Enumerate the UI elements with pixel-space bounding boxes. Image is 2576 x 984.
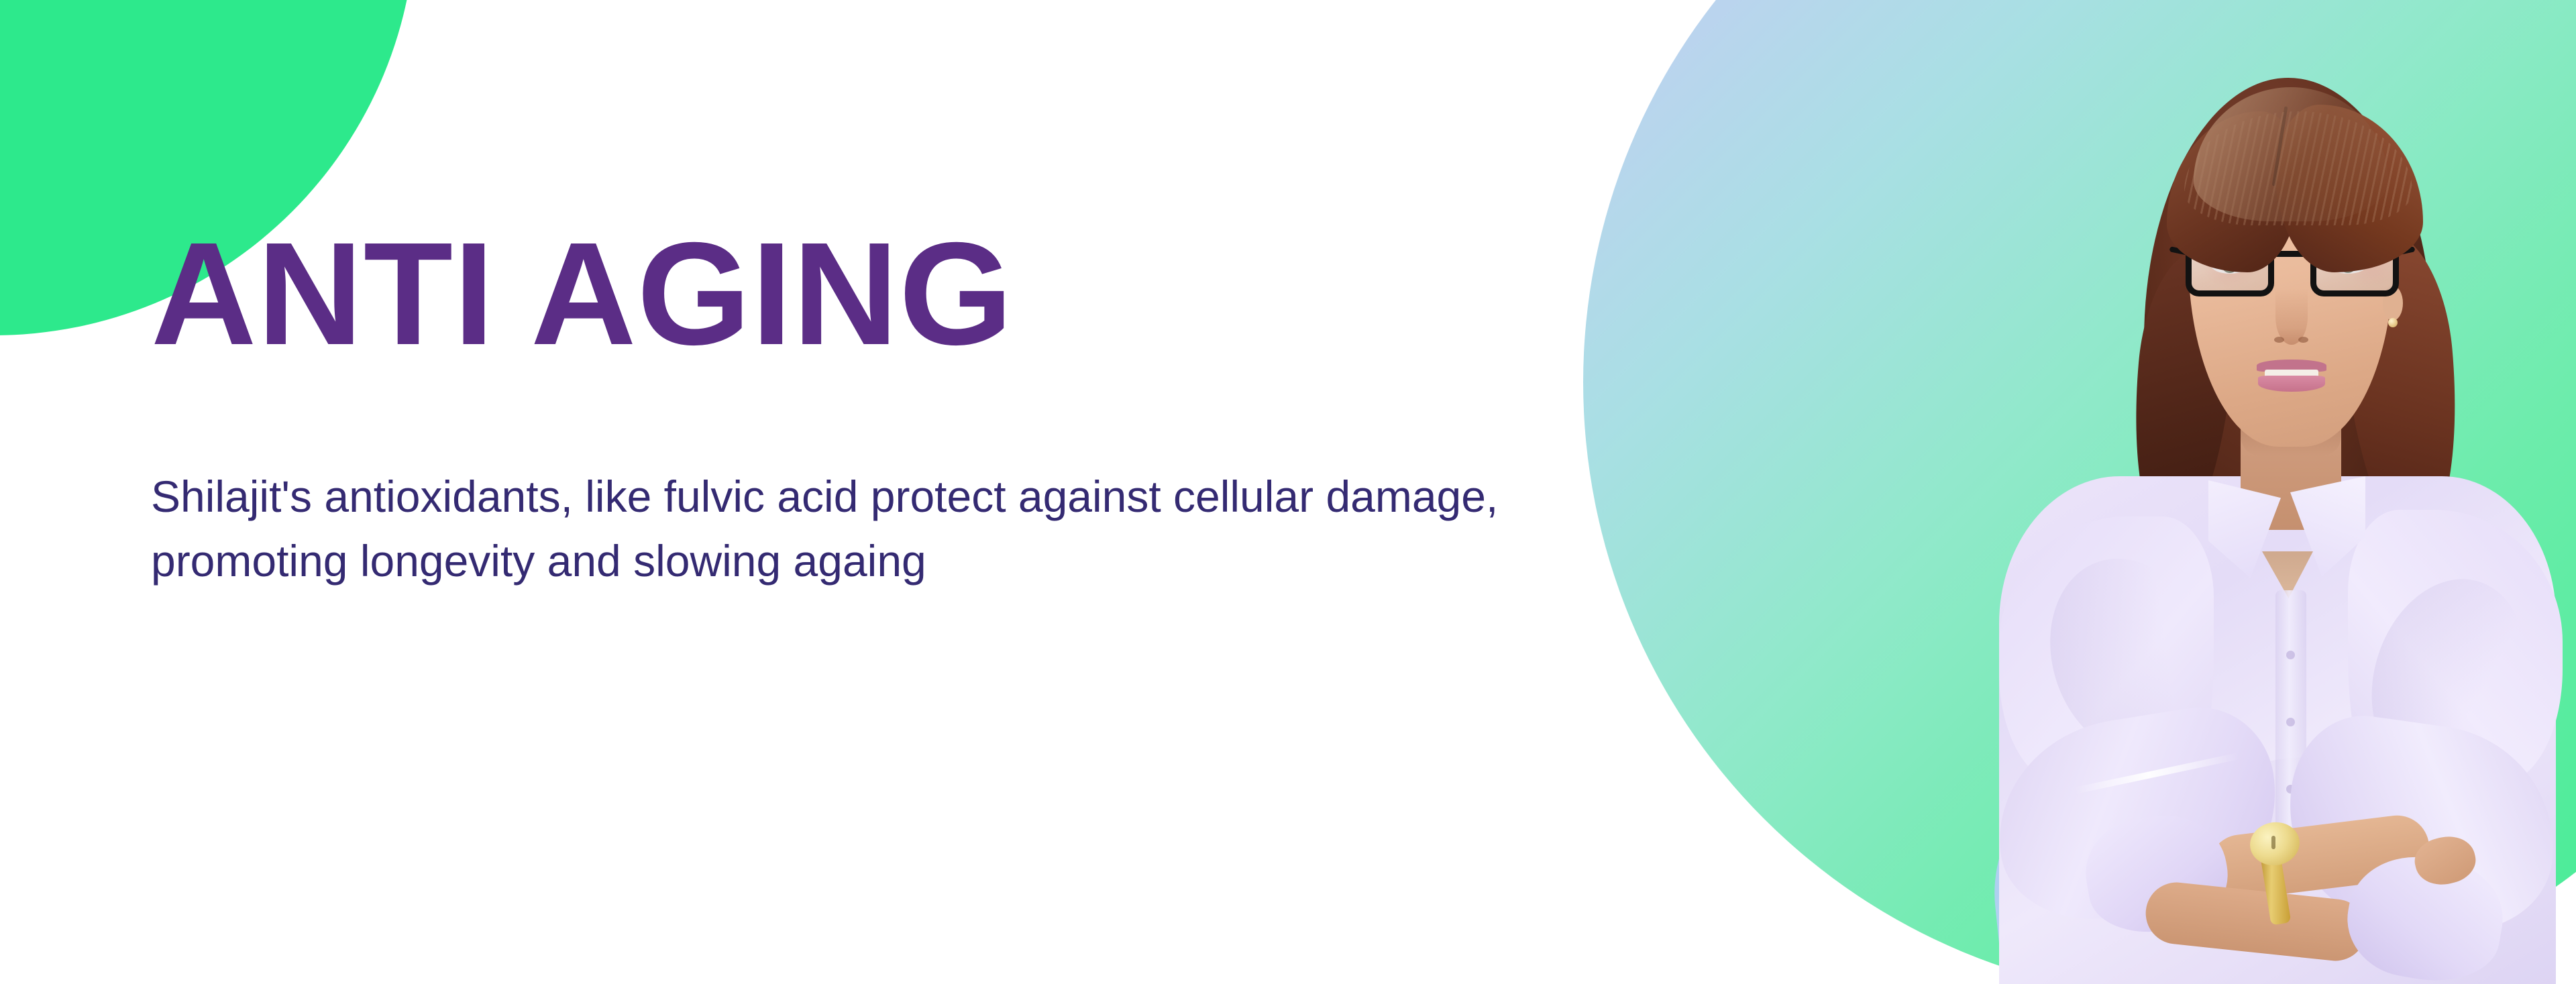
watch-pin <box>2271 836 2275 849</box>
anti-aging-banner: ANTI AGING Shilajit's antioxidants, like… <box>0 0 2576 984</box>
shirt-button <box>2286 651 2295 659</box>
text-column: ANTI AGING Shilajit's antioxidants, like… <box>151 221 1560 593</box>
page-title: ANTI AGING <box>151 221 1560 368</box>
body-paragraph: Shilajit's antioxidants, like fulvic aci… <box>151 368 1560 593</box>
earring-icon <box>2388 318 2398 327</box>
portrait-image <box>1972 47 2576 984</box>
shirt-button <box>2286 718 2295 726</box>
lower-lip <box>2258 376 2325 392</box>
nostril-left <box>2274 337 2284 343</box>
nostril-right <box>2298 337 2308 343</box>
